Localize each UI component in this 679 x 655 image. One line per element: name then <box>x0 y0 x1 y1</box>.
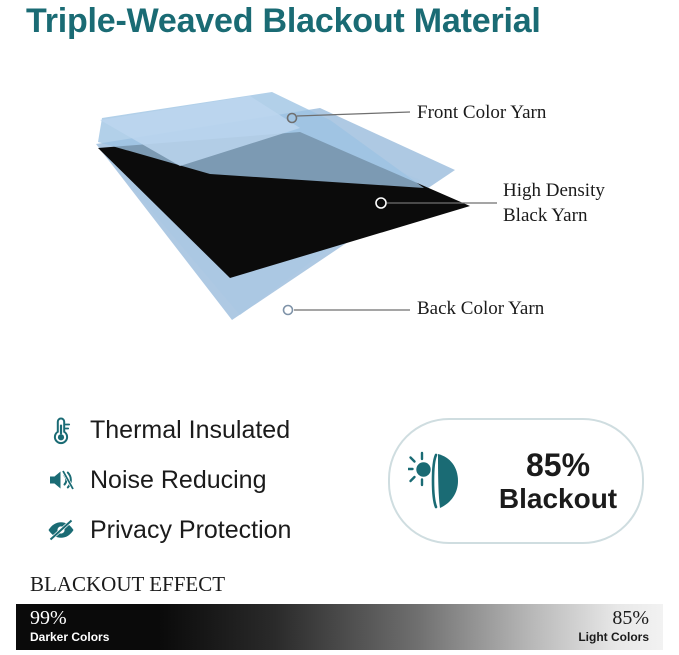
feature-label-privacy-protection: Privacy Protection <box>90 516 291 545</box>
blackout-effect-title: BLACKOUT EFFECT <box>30 572 225 597</box>
effect-light-colors: 85% Light Colors <box>578 607 649 645</box>
feature-list: Thermal Insulated Noise Reducing Privacy… <box>44 408 374 558</box>
blackout-badge: 85% Blackout <box>388 418 644 544</box>
feature-label-noise-reducing: Noise Reducing <box>90 466 267 495</box>
feature-item-noise-reducing: Noise Reducing <box>44 458 374 502</box>
front-color-yarn-label: Front Color Yarn <box>417 102 546 124</box>
effect-light-percent: 85% <box>578 607 649 629</box>
blackout-badge-text: 85% Blackout <box>484 447 632 515</box>
feature-item-privacy-protection: Privacy Protection <box>44 508 374 552</box>
high-density-black-yarn-label-line1: High Density <box>503 178 605 203</box>
effect-darker-colors: 99% Darker Colors <box>30 607 109 645</box>
effect-darker-label: Darker Colors <box>30 629 109 645</box>
effect-darker-percent: 99% <box>30 607 109 629</box>
feature-item-thermal-insulated: Thermal Insulated <box>44 408 374 452</box>
sun-behind-curtain-icon <box>398 450 484 512</box>
back-color-yarn-label: Back Color Yarn <box>417 298 544 320</box>
blackout-label: Blackout <box>484 483 632 515</box>
page-title: Triple-Weaved Blackout Material <box>26 2 666 41</box>
high-density-black-yarn-label-line2: Black Yarn <box>503 203 605 228</box>
blackout-effect-gradient-bar: 99% Darker Colors 85% Light Colors <box>16 604 663 650</box>
material-layers-diagram: Front Color Yarn High Density Black Yarn… <box>0 70 679 350</box>
feature-label-thermal-insulated: Thermal Insulated <box>90 416 290 445</box>
effect-light-label: Light Colors <box>578 629 649 645</box>
thermometer-icon <box>44 415 78 445</box>
back-yarn-marker-dot <box>284 306 293 315</box>
speaker-mute-icon <box>44 467 78 493</box>
eye-slash-icon <box>44 518 78 542</box>
blackout-percent: 85% <box>526 447 590 483</box>
high-density-black-yarn-label: High Density Black Yarn <box>503 178 605 228</box>
